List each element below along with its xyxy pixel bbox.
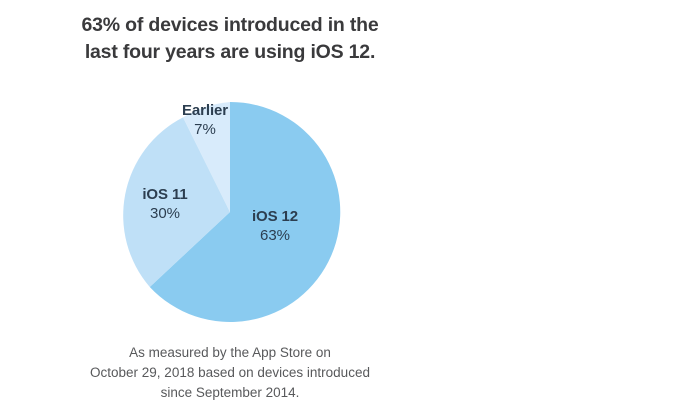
pie-label-ios11-name: iOS 11: [110, 186, 220, 204]
pie-label-earlier-value: 7%: [150, 121, 260, 139]
pie-label-earlier-name: Earlier: [150, 102, 260, 120]
chart-title-line-2: last four years are using iOS 12.: [0, 39, 460, 66]
chart-title-line-1: 63% of devices introduced in the: [0, 12, 460, 39]
chart-title: 63% of devices introduced in the last fo…: [0, 12, 460, 66]
pie-label-ios12-value: 63%: [220, 227, 330, 245]
chart-footnote: As measured by the App Store on October …: [0, 343, 460, 403]
pie-label-earlier: Earlier 7%: [150, 102, 260, 138]
chart-footnote-line-3: since September 2014.: [0, 383, 460, 403]
pie-label-ios11: iOS 11 30%: [110, 186, 220, 222]
chart-footnote-line-1: As measured by the App Store on: [0, 343, 460, 363]
pie-chart-figure: 63% of devices introduced in the last fo…: [0, 0, 700, 420]
chart-footnote-line-2: October 29, 2018 based on devices introd…: [0, 363, 460, 383]
pie-label-ios12-name: iOS 12: [220, 208, 330, 226]
pie-label-ios12: iOS 12 63%: [220, 208, 330, 244]
pie-label-ios11-value: 30%: [110, 205, 220, 223]
